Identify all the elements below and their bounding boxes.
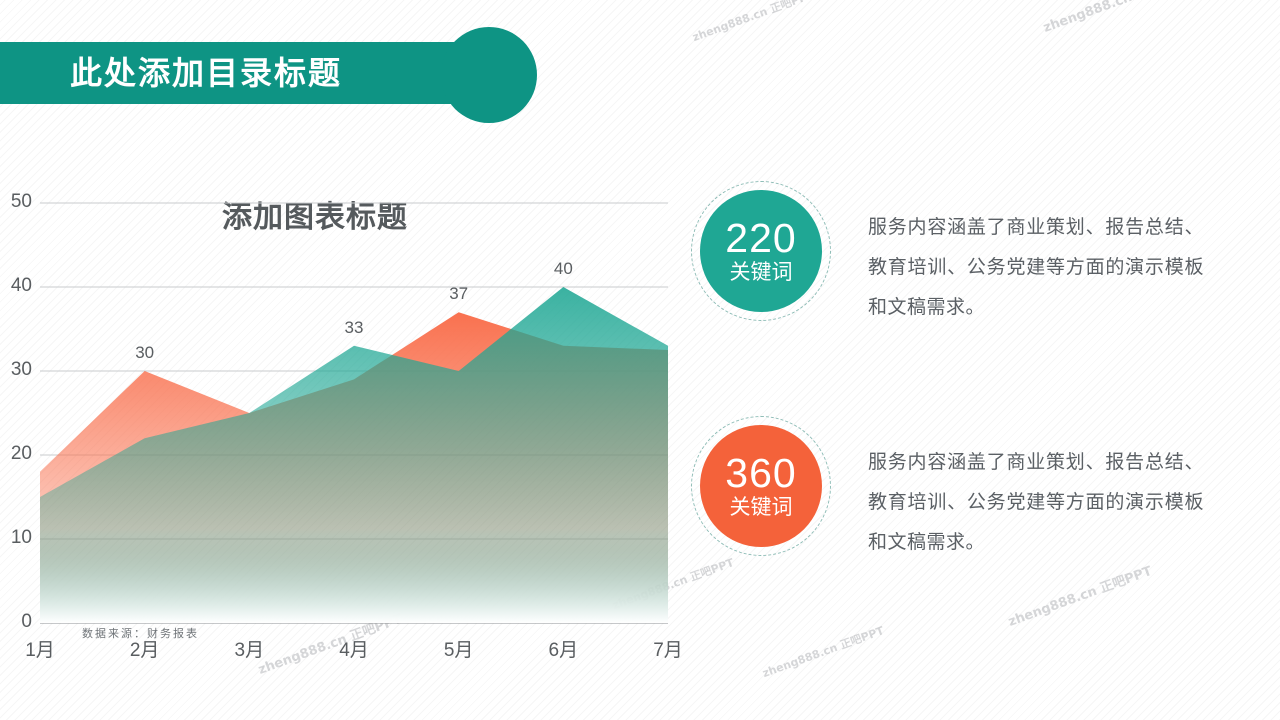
x-axis-tick: 7月	[633, 635, 703, 662]
data-label: 30	[115, 343, 175, 363]
stat-caption-1: 关键词	[730, 495, 793, 521]
data-label: 37	[429, 284, 489, 304]
x-axis-tick: 5月	[424, 635, 494, 662]
y-axis-tick: 0	[0, 611, 32, 633]
stat-badge-disc-1: 360 关键词	[700, 425, 822, 547]
page-title: 此处添加目录标题	[70, 42, 342, 104]
stat-description-0: 服务内容涵盖了商业策划、报告总结、教育培训、公务党建等方面的演示模板和文稿需求。	[868, 208, 1204, 328]
y-axis-tick: 30	[0, 359, 32, 381]
area-chart	[0, 170, 700, 670]
y-axis-tick: 40	[0, 275, 32, 297]
watermark-text: zheng888.cn 正吧PPT	[760, 622, 886, 681]
stat-description-1: 服务内容涵盖了商业策划、报告总结、教育培训、公务党建等方面的演示模板和文稿需求。	[868, 443, 1204, 563]
y-axis-tick: 10	[0, 527, 32, 549]
data-label: 40	[533, 259, 593, 279]
x-axis-tick: 1月	[5, 635, 75, 662]
watermark-text: zheng888.cn 正吧PPT	[1040, 0, 1189, 36]
stat-badge-1[interactable]: 360 关键词	[688, 415, 834, 555]
stat-badge-0[interactable]: 220 关键词	[688, 180, 834, 320]
data-label: 33	[324, 318, 384, 338]
chart-source-note: 数据来源：财务报表	[82, 625, 199, 641]
header-banner-cap	[441, 27, 537, 123]
chart-region: 添加图表标题 010203040501月2月3月4月5月6月7月30333740…	[0, 170, 700, 670]
stat-caption-0: 关键词	[730, 260, 793, 286]
x-axis-tick: 6月	[528, 635, 598, 662]
x-axis-tick: 4月	[319, 635, 389, 662]
stat-number-1: 360	[725, 452, 796, 494]
watermark-text: zheng888.cn 正吧PPT	[1005, 560, 1154, 630]
stat-badge-disc-0: 220 关键词	[700, 190, 822, 312]
stat-number-0: 220	[725, 217, 796, 259]
y-axis-tick: 20	[0, 443, 32, 465]
y-axis-tick: 50	[0, 191, 32, 213]
stat-block-1: 360 关键词 服务内容涵盖了商业策划、报告总结、教育培训、公务党建等方面的演示…	[688, 415, 1204, 563]
x-axis-tick: 3月	[214, 635, 284, 662]
watermark-text: zheng888.cn 正吧PPT	[690, 0, 816, 45]
stat-block-0: 220 关键词 服务内容涵盖了商业策划、报告总结、教育培训、公务党建等方面的演示…	[688, 180, 1204, 328]
